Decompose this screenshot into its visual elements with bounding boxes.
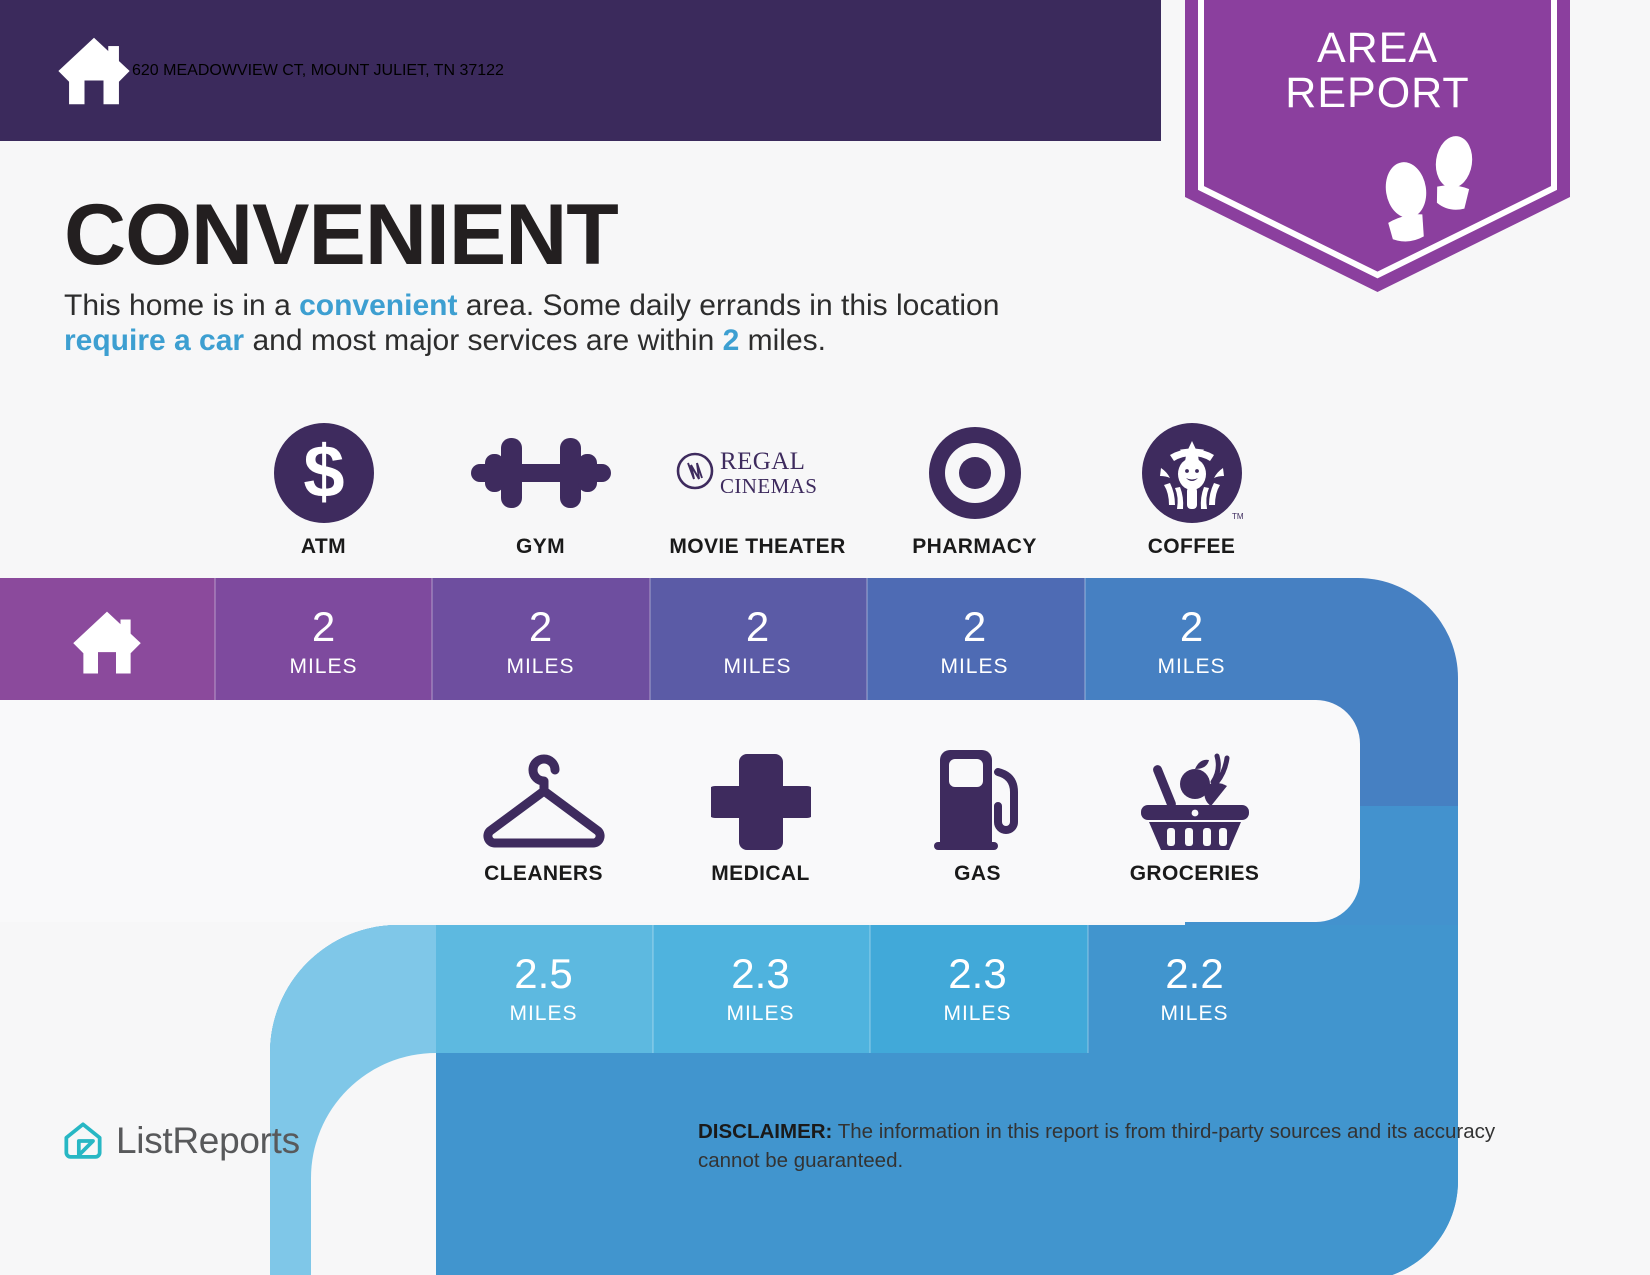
distance-cell-atm: 2 MILES xyxy=(215,578,432,706)
page-title: CONVENIENT xyxy=(64,192,618,278)
amenity-label: GYM xyxy=(516,535,565,559)
regal-cinemas-icon: REGAL CINEMAS xyxy=(675,425,840,521)
subtitle-highlight-3: 2 xyxy=(723,324,740,357)
distance-value: 2 xyxy=(963,606,986,648)
area-report-banner: AREA REPORT xyxy=(1185,0,1570,292)
subtitle-part-3: and most major services are within xyxy=(244,324,723,357)
amenity-groceries: GROCERIES xyxy=(1086,752,1303,886)
distance-cell-gas: 2.3 MILES xyxy=(869,925,1086,1053)
distance-cell-cleaners: 2.5 MILES xyxy=(435,925,652,1053)
page-subtitle: This home is in a convenient area. Some … xyxy=(64,288,1094,359)
distance-cell-medical: 2.3 MILES xyxy=(652,925,869,1053)
amenity-label: ATM xyxy=(301,535,346,559)
distance-unit: MILES xyxy=(723,655,791,679)
distance-unit: MILES xyxy=(509,1002,577,1026)
distance-value: 2 xyxy=(529,606,552,648)
distance-unit: MILES xyxy=(506,655,574,679)
distance-row-2: 2.5 MILES 2.3 MILES 2.3 MILES 2.2 MILES xyxy=(435,925,1305,1053)
starbucks-icon: TM xyxy=(1140,425,1244,521)
amenity-label: MOVIE THEATER xyxy=(669,535,845,559)
home-icon xyxy=(56,33,132,109)
amenity-coffee: TM COFFEE xyxy=(1083,425,1300,559)
amenity-icon-row-1: $ ATM GYM REGAL CINEMAS xyxy=(215,425,1300,559)
amenity-atm: $ ATM xyxy=(215,425,432,559)
subtitle-highlight-2: require a car xyxy=(64,324,244,357)
subtitle-part-4: miles. xyxy=(739,324,826,357)
disclaimer-label: DISCLAIMER: xyxy=(698,1120,832,1143)
clothes-hanger-icon xyxy=(476,752,612,848)
distance-unit: MILES xyxy=(1157,655,1225,679)
listreports-logo: ListReports xyxy=(63,1120,300,1162)
distance-cell-coffee: 2 MILES xyxy=(1083,578,1300,706)
dollar-circle-icon: $ xyxy=(272,425,376,521)
distance-row-1: 2 MILES 2 MILES 2 MILES 2 MILES 2 MILES xyxy=(215,578,1300,706)
amenity-label: CLEANERS xyxy=(484,862,603,886)
amenity-label: GROCERIES xyxy=(1130,862,1260,886)
subtitle-part-1: This home is in a xyxy=(64,289,299,322)
amenity-movie-theater: REGAL CINEMAS MOVIE THEATER xyxy=(649,425,866,559)
amenity-gas: GAS xyxy=(869,752,1086,886)
amenity-icon-row-2: CLEANERS MEDICAL GAS xyxy=(435,752,1305,886)
amenity-label: COFFEE xyxy=(1148,535,1236,559)
grocery-basket-icon xyxy=(1133,752,1257,848)
listreports-wordmark: ListReports xyxy=(116,1120,300,1162)
distance-unit: MILES xyxy=(1160,1002,1228,1026)
gas-pump-icon xyxy=(930,752,1026,848)
svg-text:REGAL: REGAL xyxy=(720,448,805,475)
amenity-medical: MEDICAL xyxy=(652,752,869,886)
distance-unit: MILES xyxy=(289,655,357,679)
distance-unit: MILES xyxy=(943,1002,1011,1026)
medical-cross-icon xyxy=(711,752,811,848)
amenity-label: PHARMACY xyxy=(912,535,1037,559)
distance-value: 2 xyxy=(746,606,769,648)
distance-cell-movie-theater: 2 MILES xyxy=(649,578,866,706)
distance-value: 2 xyxy=(312,606,335,648)
amenity-pharmacy: PHARMACY xyxy=(866,425,1083,559)
distance-cell-groceries: 2.2 MILES xyxy=(1086,925,1303,1053)
distance-value: 2.2 xyxy=(1165,953,1223,995)
distance-value: 2.3 xyxy=(948,953,1006,995)
subtitle-highlight-1: convenient xyxy=(299,289,457,322)
distance-cell-pharmacy: 2 MILES xyxy=(866,578,1083,706)
distance-cell-gym: 2 MILES xyxy=(432,578,649,706)
amenity-cleaners: CLEANERS xyxy=(435,752,652,886)
distance-unit: MILES xyxy=(726,1002,794,1026)
amenity-label: GAS xyxy=(954,862,1001,886)
header-bar: 620 MEADOWVIEW CT, MOUNT JULIET, TN 3712… xyxy=(0,0,1161,141)
disclaimer: DISCLAIMER: The information in this repo… xyxy=(698,1118,1508,1175)
amenity-gym: GYM xyxy=(432,425,649,559)
listreports-house-icon xyxy=(63,1121,103,1161)
home-icon xyxy=(70,606,144,678)
dumbbell-icon xyxy=(471,425,611,521)
subtitle-part-2: area. Some daily errands in this locatio… xyxy=(457,289,999,322)
distance-value: 2.3 xyxy=(731,953,789,995)
target-bullseye-icon xyxy=(925,425,1025,521)
distance-unit: MILES xyxy=(940,655,1008,679)
amenity-label: MEDICAL xyxy=(711,862,809,886)
header-address: 620 MEADOWVIEW CT, MOUNT JULIET, TN 3712… xyxy=(132,62,504,80)
distance-value: 2.5 xyxy=(514,953,572,995)
svg-text:TM: TM xyxy=(1232,512,1244,521)
svg-text:CINEMAS: CINEMAS xyxy=(720,474,817,498)
distance-value: 2 xyxy=(1180,606,1203,648)
svg-text:$: $ xyxy=(303,430,344,513)
